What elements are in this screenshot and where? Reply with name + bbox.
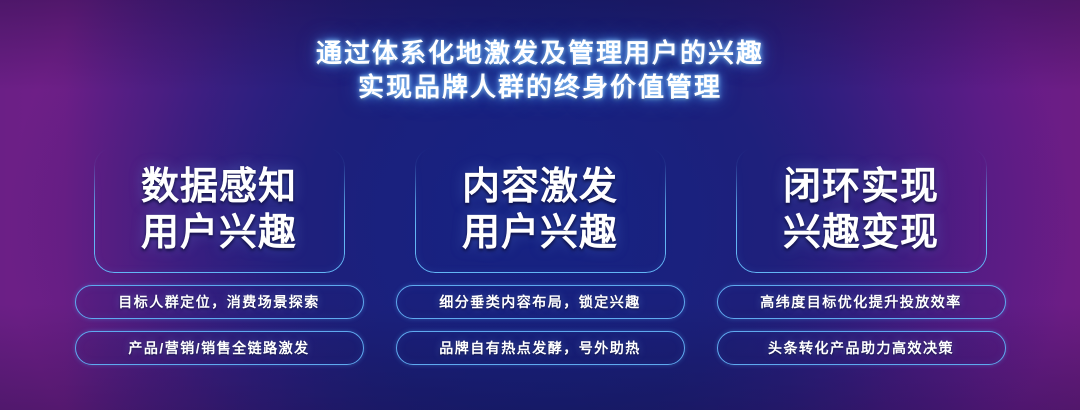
pillar-2-pill-1: 细分垂类内容布局，锁定兴趣: [396, 285, 685, 319]
pillar-card-2: 内容激发 用户兴趣: [415, 147, 666, 273]
pillar-heading-3-line-2: 兴趣变现: [783, 210, 939, 256]
pillar-heading-3: 闭环实现 兴趣变现: [783, 164, 939, 256]
pillar-2-pill-2-label: 品牌自有热点发酵，号外助热: [439, 338, 641, 358]
title-line-2: 实现品牌人群的终身价值管理: [0, 70, 1080, 104]
pillar-heading-1-line-2: 用户兴趣: [141, 210, 297, 256]
banner-title: 通过体系化地激发及管理用户的兴趣 实现品牌人群的终身价值管理: [0, 36, 1080, 104]
pillar-1-pill-1-label: 目标人群定位，消费场景探索: [118, 292, 320, 312]
pillar-1-pill-1: 目标人群定位，消费场景探索: [75, 285, 364, 319]
pillar-heading-2-line-1: 内容激发: [462, 166, 618, 208]
pillar-heading-3-line-1: 闭环实现: [783, 166, 939, 208]
pillar-1-pill-2: 产品/营销/销售全链路激发: [75, 331, 364, 365]
pillar-2-pill-1-label: 细分垂类内容布局，锁定兴趣: [439, 292, 641, 312]
pillar-heading-1-line-1: 数据感知: [141, 166, 297, 208]
pillar-3-pill-1-label: 高纬度目标优化提升投放效率: [760, 292, 962, 312]
pillar-column-2: 内容激发 用户兴趣 细分垂类内容布局，锁定兴趣 品牌自有热点发酵，号外助热: [415, 147, 666, 365]
pillar-columns: 数据感知 用户兴趣 目标人群定位，消费场景探索 产品/营销/销售全链路激发 内容…: [0, 147, 1080, 365]
pillar-card-3: 闭环实现 兴趣变现: [736, 147, 987, 273]
pillar-column-1: 数据感知 用户兴趣 目标人群定位，消费场景探索 产品/营销/销售全链路激发: [94, 147, 345, 365]
marketing-banner: 通过体系化地激发及管理用户的兴趣 实现品牌人群的终身价值管理 数据感知 用户兴趣…: [0, 0, 1080, 410]
pillar-3-pill-2: 头条转化产品助力高效决策: [717, 331, 1006, 365]
pillar-1-pill-2-label: 产品/营销/销售全链路激发: [128, 338, 309, 358]
pillar-heading-2-line-2: 用户兴趣: [462, 210, 618, 256]
pillar-heading-1: 数据感知 用户兴趣: [141, 164, 297, 256]
pillar-3-pill-1: 高纬度目标优化提升投放效率: [717, 285, 1006, 319]
pillar-heading-2: 内容激发 用户兴趣: [462, 164, 618, 256]
pillar-column-3: 闭环实现 兴趣变现 高纬度目标优化提升投放效率 头条转化产品助力高效决策: [736, 147, 987, 365]
pillar-card-1: 数据感知 用户兴趣: [94, 147, 345, 273]
pillar-3-pill-2-label: 头条转化产品助力高效决策: [768, 338, 954, 358]
title-line-1: 通过体系化地激发及管理用户的兴趣: [0, 36, 1080, 70]
pillar-2-pill-2: 品牌自有热点发酵，号外助热: [396, 331, 685, 365]
